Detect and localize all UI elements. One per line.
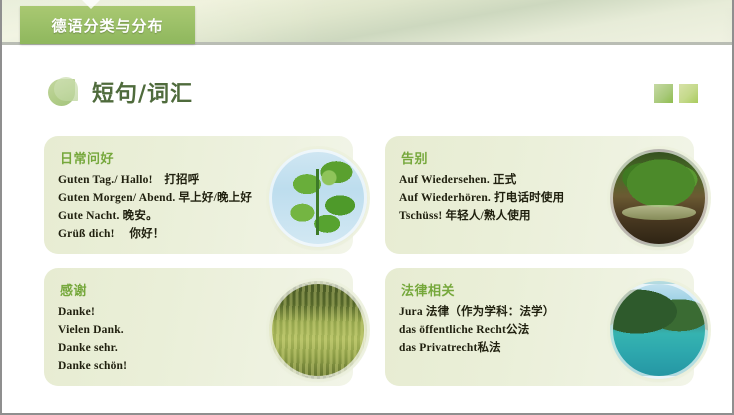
- card-daily-greetings: 日常问好 Guten Tag./ Hallo! 打招呼 Guten Morgen…: [44, 136, 353, 254]
- card-line: Tschüss! 年轻人/熟人使用: [399, 207, 598, 225]
- card-line: Danke schön!: [58, 357, 257, 375]
- section-tab[interactable]: 德语分类与分布: [20, 6, 195, 44]
- card-line: Auf Wiederhören. 打电话时使用: [399, 189, 598, 207]
- bonsai-tree-photo: [610, 149, 708, 247]
- triangle-down-icon: [82, 0, 100, 9]
- card-thanks: 感谢 Danke! Vielen Dank. Danke sehr. Danke…: [44, 268, 353, 386]
- card-line-list: Guten Tag./ Hallo! 打招呼 Guten Morgen/ Abe…: [58, 171, 257, 243]
- card-heading: 告别: [401, 148, 598, 167]
- light-green-square-icon: [679, 84, 698, 103]
- card-line: Gute Nacht. 晚安。: [58, 207, 257, 225]
- green-square-icon: [654, 84, 673, 103]
- card-line: das Privatrecht私法: [399, 339, 598, 357]
- card-line: Grüß dich! 你好！: [58, 225, 257, 243]
- cards-grid: 日常问好 Guten Tag./ Hallo! 打招呼 Guten Morgen…: [44, 136, 704, 386]
- grass-field-photo: [269, 281, 367, 379]
- slide-root: 德语分类与分布 短句/词汇 日常问好 Guten Tag./ Hallo! 打招…: [0, 0, 734, 415]
- sprout-photo: [269, 149, 367, 247]
- card-line-list: Auf Wiedersehen. 正式 Auf Wiederhören. 打电话…: [399, 171, 598, 225]
- card-line: Auf Wiedersehen. 正式: [399, 171, 598, 189]
- page-title-text: 短句/词汇: [92, 76, 193, 108]
- lake-photo: [610, 281, 708, 379]
- card-line-list: Jura 法律（作为学科：法学） das öffentliche Recht公法…: [399, 303, 598, 357]
- card-line: Guten Tag./ Hallo! 打招呼: [58, 171, 257, 189]
- card-line: Guten Morgen/ Abend. 早上好/晚上好: [58, 189, 257, 207]
- card-line: Danke sehr.: [58, 339, 257, 357]
- card-legal-terms: 法律相关 Jura 法律（作为学科：法学） das öffentliche Re…: [385, 268, 694, 386]
- card-line: Jura 法律（作为学科：法学）: [399, 303, 598, 321]
- card-farewell: 告别 Auf Wiedersehen. 正式 Auf Wiederhören. …: [385, 136, 694, 254]
- card-heading: 感谢: [60, 280, 257, 299]
- card-heading: 日常问好: [60, 148, 257, 167]
- card-line: Vielen Dank.: [58, 321, 257, 339]
- section-tab-label: 德语分类与分布: [51, 15, 163, 36]
- leaf-icon: [48, 77, 78, 107]
- card-line: das öffentliche Recht公法: [399, 321, 598, 339]
- card-line-list: Danke! Vielen Dank. Danke sehr. Danke sc…: [58, 303, 257, 375]
- page-title: 短句/词汇: [48, 76, 193, 108]
- card-heading: 法律相关: [401, 280, 598, 299]
- decoration-squares: [654, 84, 698, 103]
- card-line: Danke!: [58, 303, 257, 321]
